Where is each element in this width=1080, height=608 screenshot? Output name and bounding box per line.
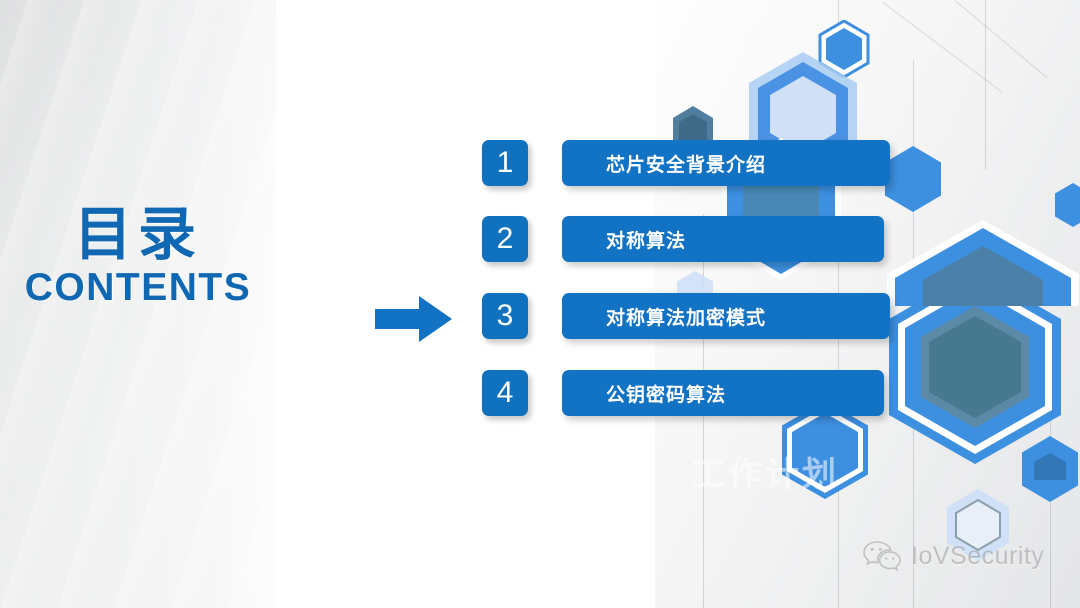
title-english: CONTENTS (0, 268, 276, 309)
item-number-badge: 2 (482, 216, 528, 262)
item-bar[interactable]: 对称算法加密模式 (562, 293, 890, 339)
hex-chevron-bottom (883, 218, 1080, 308)
slide-canvas: 目录 CONTENTS (0, 0, 1080, 608)
hex-small-right-edge (1053, 182, 1080, 228)
item-number-badge: 4 (482, 370, 528, 416)
item-bar[interactable]: 芯片安全背景介绍 (562, 140, 890, 186)
item-number-badge: 3 (482, 293, 528, 339)
item-number-badge: 1 (482, 140, 528, 186)
wechat-icon (862, 540, 902, 572)
brand-name: IoVSecurity (911, 542, 1044, 571)
item-bar[interactable]: 公钥密码算法 (562, 370, 884, 416)
item-label: 对称算法 (562, 226, 686, 253)
page-title: 目录 CONTENTS (0, 206, 276, 309)
title-chinese: 目录 (0, 206, 276, 264)
item-label: 公钥密码算法 (562, 380, 726, 407)
brand-watermark: IoVSecurity (862, 540, 1044, 572)
hex-solid-small-lower (1020, 435, 1080, 503)
item-label: 芯片安全背景介绍 (562, 150, 766, 177)
item-bar[interactable]: 对称算法 (562, 216, 884, 262)
center-watermark: 工作计划 (645, 440, 885, 502)
hex-solid-mid (883, 145, 943, 213)
item-label: 对称算法加密模式 (562, 303, 766, 330)
right-arrow-icon (375, 296, 453, 342)
